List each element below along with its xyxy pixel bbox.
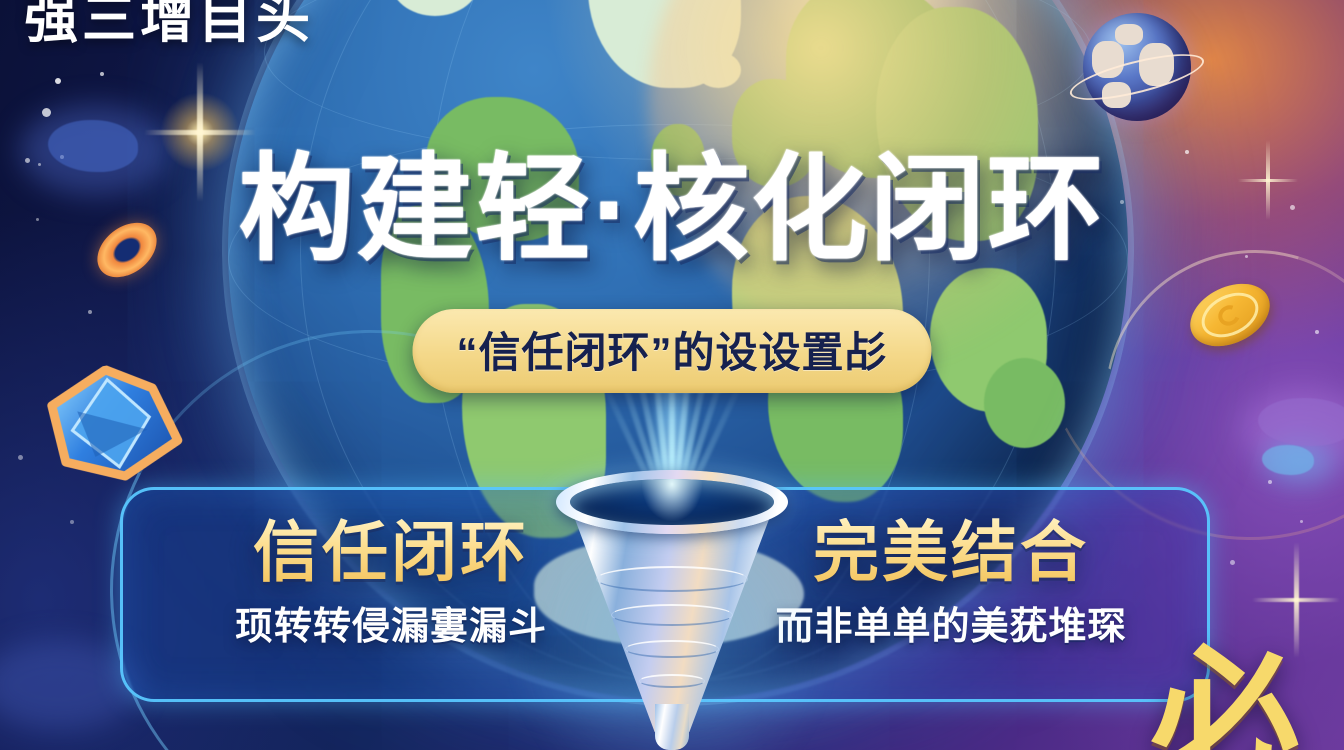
star bbox=[1315, 330, 1319, 334]
page-top-title: 强三增目头 bbox=[24, 0, 314, 53]
funnel-ring bbox=[625, 640, 719, 658]
blue-four-point-star-svg bbox=[41, 355, 190, 494]
funnel-ring bbox=[639, 674, 705, 688]
asteroid bbox=[1262, 445, 1314, 475]
funnel-rim bbox=[556, 470, 788, 534]
star bbox=[55, 78, 61, 84]
star bbox=[70, 520, 74, 524]
main-title: 构建轻·核化闭环 bbox=[0, 150, 1344, 268]
blue-four-point-star-icon bbox=[41, 355, 190, 494]
funnel-ring bbox=[611, 604, 733, 626]
subtitle-pill: “信任闭环”的设设置㣌 bbox=[412, 309, 931, 393]
star bbox=[1300, 520, 1303, 523]
star bbox=[1230, 560, 1235, 565]
mini-globe-icon bbox=[1083, 13, 1191, 121]
star bbox=[100, 72, 104, 76]
subtitle-text: “信任闭环”的设设置㣌 bbox=[456, 329, 887, 376]
funnel-icon bbox=[556, 470, 788, 750]
funnel-ring bbox=[596, 566, 748, 592]
star bbox=[42, 108, 51, 117]
star bbox=[18, 455, 23, 460]
funnel-opening bbox=[570, 479, 774, 525]
corner-accent-character: 必 bbox=[1150, 644, 1300, 750]
star bbox=[1268, 480, 1272, 484]
star bbox=[88, 310, 92, 314]
poster-canvas: 强三增目头 构建轻·核化闭环 “信任闭环”的设设置㣌 信任闭环 顼转转侵漏寠漏斗… bbox=[0, 0, 1344, 750]
funnel-spout bbox=[655, 704, 689, 750]
